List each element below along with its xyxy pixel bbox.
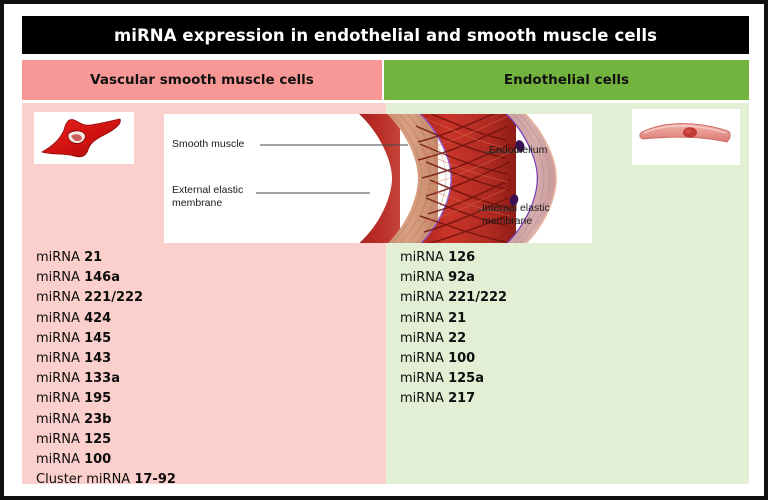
endothelial-cell-image [632,109,740,165]
mirna-list-item: miRNA 22 [400,329,507,349]
mirna-prefix: miRNA [36,331,84,346]
mirna-prefix: miRNA [400,250,448,265]
figure-title-bar: miRNA expression in endothelial and smoo… [22,16,749,54]
mirna-id: 23b [84,412,111,427]
mirna-id: 125 [84,432,111,447]
mirna-prefix: miRNA [36,432,84,447]
smooth-muscle-cell-icon [34,112,134,164]
mirna-list-item: miRNA 221/222 [400,288,507,308]
diagram-label-external-elastic-membrane: External elastic membrane [172,184,243,209]
mirna-id: 17-92 [134,472,176,487]
mirna-id: 21 [84,250,102,265]
mirna-list-item: miRNA 21 [36,248,176,268]
mirna-id: 92a [448,270,475,285]
mirna-list-item: miRNA 21 [400,309,507,329]
mirna-id: 133a [84,371,120,386]
mirna-list-item: miRNA 100 [400,349,507,369]
mirna-id: 21 [448,311,466,326]
mirna-list-item: miRNA 125 [36,430,176,450]
mirna-list-item: miRNA 221/222 [36,288,176,308]
mirna-prefix: miRNA [36,270,84,285]
mirna-id: 100 [448,351,475,366]
mirna-prefix: miRNA [400,290,448,305]
mirna-prefix: miRNA [36,371,84,386]
endothelial-cell-icon [632,109,740,165]
mirna-id: 22 [448,331,466,346]
mirna-list-item: Cluster miRNA 17-92 [36,470,176,490]
mirna-id: 100 [84,452,111,467]
mirna-list-item: miRNA 23b [36,410,176,430]
diagram-label-internal-elastic-membrane: Internal elastic membrane [482,202,550,227]
mirna-prefix: Cluster miRNA [36,472,134,487]
mirna-prefix: miRNA [36,250,84,265]
mirna-prefix: miRNA [36,452,84,467]
mirna-prefix: miRNA [36,290,84,305]
mirna-id: 146a [84,270,120,285]
mirna-prefix: miRNA [400,391,448,406]
mirna-id: 125a [448,371,484,386]
mirna-id: 221/222 [84,290,143,305]
mirna-prefix: miRNA [400,331,448,346]
mirna-prefix: miRNA [36,311,84,326]
column-header-label-right: Endothelial cells [504,72,629,88]
mirna-id: 143 [84,351,111,366]
column-header-endothelial-cells: Endothelial cells [384,60,749,100]
mirna-id: 195 [84,391,111,406]
mirna-id: 424 [84,311,111,326]
artery-cross-section-diagram: Smooth muscle External elastic membrane … [164,114,592,243]
mirna-list-vascular-smooth-muscle-cells: miRNA 21miRNA 146amiRNA 221/222miRNA 424… [36,248,176,490]
diagram-label-endothelium: Endothelium [489,144,547,157]
mirna-id: 217 [448,391,475,406]
mirna-prefix: miRNA [400,270,448,285]
mirna-list-item: miRNA 217 [400,389,507,409]
mirna-prefix: miRNA [36,412,84,427]
mirna-list-item: miRNA 92a [400,268,507,288]
diagram-label-smooth-muscle: Smooth muscle [172,138,244,151]
mirna-id: 221/222 [448,290,507,305]
mirna-prefix: miRNA [36,391,84,406]
mirna-prefix: miRNA [400,371,448,386]
mirna-prefix: miRNA [400,351,448,366]
smooth-muscle-cell-image [34,112,134,164]
figure-frame: miRNA expression in endothelial and smoo… [0,0,768,500]
mirna-list-item: miRNA 143 [36,349,176,369]
column-header-label-left: Vascular smooth muscle cells [90,72,314,88]
mirna-id: 145 [84,331,111,346]
mirna-list-item: miRNA 195 [36,389,176,409]
mirna-list-item: miRNA 145 [36,329,176,349]
mirna-prefix: miRNA [400,311,448,326]
mirna-list-item: miRNA 424 [36,309,176,329]
mirna-id: 126 [448,250,475,265]
mirna-prefix: miRNA [36,351,84,366]
mirna-list-item: miRNA 133a [36,369,176,389]
mirna-list-item: miRNA 146a [36,268,176,288]
mirna-list-item: miRNA 125a [400,369,507,389]
figure-title: miRNA expression in endothelial and smoo… [114,26,657,45]
column-header-vascular-smooth-muscle-cells: Vascular smooth muscle cells [22,60,382,100]
mirna-list-endothelial-cells: miRNA 126miRNA 92amiRNA 221/222miRNA 21m… [400,248,507,410]
mirna-list-item: miRNA 126 [400,248,507,268]
mirna-list-item: miRNA 100 [36,450,176,470]
